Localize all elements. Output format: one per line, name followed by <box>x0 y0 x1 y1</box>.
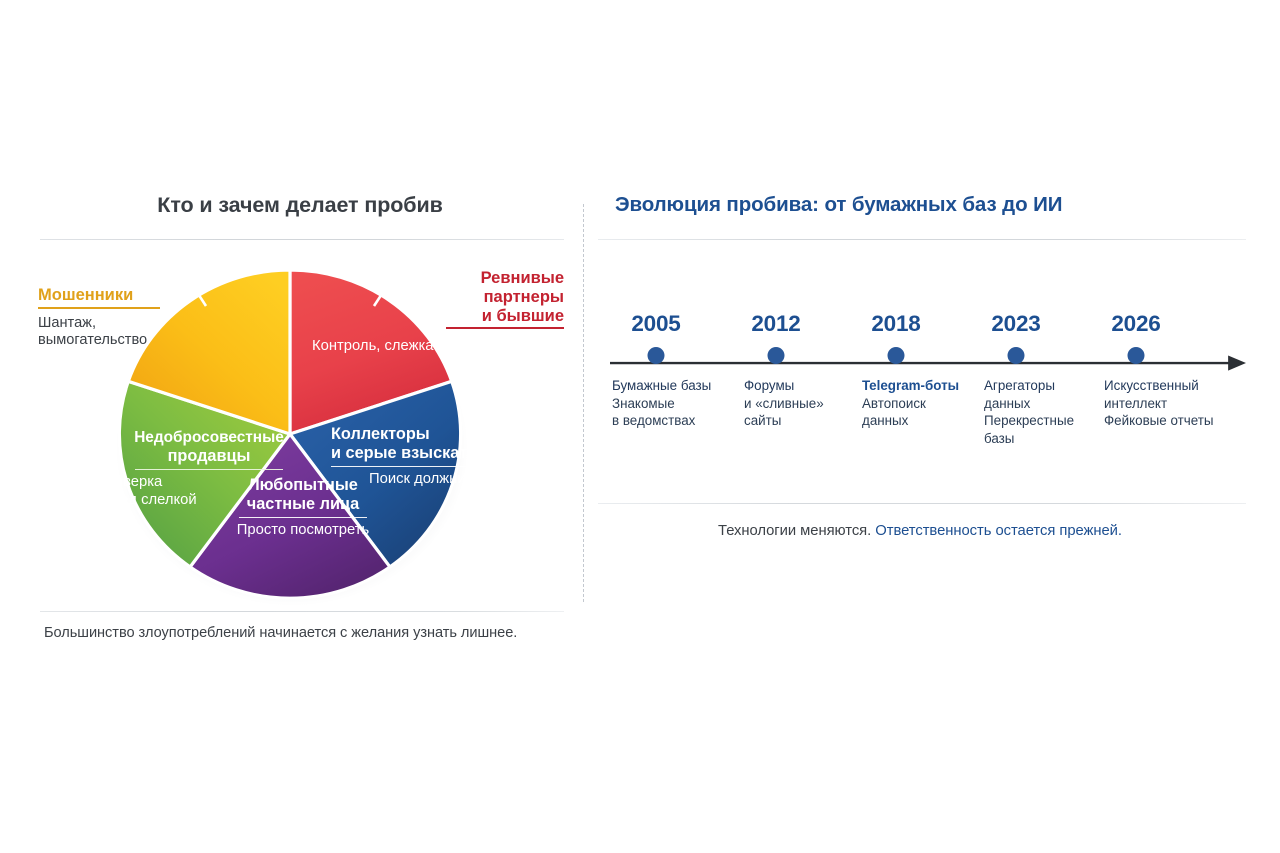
pie-label-collectors-subtitle: Поиск должников <box>369 471 531 489</box>
callout-fraudsters: Мошенники Шантаж, вымогательство <box>38 286 226 350</box>
timeline-axis <box>610 353 1246 379</box>
pie-label-unscrupulous-sellers: Недобросовестные продавцы Проверка перед… <box>116 429 302 510</box>
timeline-arrow-icon <box>1228 355 1246 370</box>
timeline-year-2023: 2023 <box>991 311 1040 337</box>
right-panel-bottom-divider <box>598 503 1246 504</box>
timeline-dot-icon-2012 <box>767 347 784 364</box>
left-panel-footnote: Большинство злоупотреблений начинается с… <box>44 625 564 641</box>
pie-label-collectors-underline <box>331 466 499 468</box>
timeline-desc-2026-lines: интеллект Фейковые отчеты <box>1104 395 1234 430</box>
timeline-year-2012: 2012 <box>751 311 800 337</box>
panel-divider <box>583 204 584 602</box>
timeline-desc-2023: Агрегаторы данных Перекрестные базы <box>984 377 1096 448</box>
pie-label-collectors-title-line1: Коллекторы <box>331 425 531 444</box>
timeline-desc-2005: Бумажные базы Знакомые в ведомствах <box>612 377 736 430</box>
callout-fraudsters-subtitle: Шантаж, вымогательство <box>38 315 226 350</box>
left-panel-title: Кто и зачем делает пробив <box>36 193 564 218</box>
pie-label-curious-individuals-underline <box>239 517 367 519</box>
pie-label-curious-individuals-subtitle: Просто посмотреть <box>222 522 384 540</box>
right-panel-footnote-part2: Ответственность остается прежней. <box>871 523 1122 539</box>
callout-jealous-partners-underline <box>446 327 564 329</box>
infographic-canvas: Кто и зачем делает пробив <box>0 0 1280 853</box>
callout-jealous-partners: Ревнивые партнеры и бывшие <box>356 269 564 335</box>
left-panel-top-divider <box>40 239 564 240</box>
left-panel: Кто и зачем делает пробив <box>36 193 564 663</box>
timeline-desc-2018-lines: Автопоиск данных <box>862 395 978 430</box>
right-panel-footnote-part1: Технологии меняются. <box>718 523 871 539</box>
timeline-desc-2018: Telegram-боты Автопоиск данных <box>862 377 978 430</box>
timeline-desc-2026: Искусственный интеллект Фейковые отчеты <box>1104 377 1234 430</box>
timeline-desc-2012-lines: и «сливные» сайты <box>744 395 848 430</box>
left-panel-bottom-divider <box>40 611 564 612</box>
pie-chart-svg <box>36 193 564 613</box>
pie-label-unscrupulous-sellers-subtitle: Проверка перед слелкой <box>96 474 302 510</box>
right-panel-top-divider <box>598 239 1246 240</box>
timeline-year-2018: 2018 <box>871 311 920 337</box>
timeline-year-2026: 2026 <box>1111 311 1160 337</box>
pie-label-unscrupulous-sellers-title-line2: продавцы <box>116 447 302 466</box>
timeline-desc-2005-head: Бумажные базы <box>612 377 736 395</box>
callout-fraudsters-title: Мошенники <box>38 286 226 305</box>
timeline-desc-2012-head: Форумы <box>744 377 848 395</box>
timeline-year-2005: 2005 <box>631 311 680 337</box>
timeline-desc-2026-head: Искусственный <box>1104 377 1234 395</box>
pie-label-collectors-title-line2: и серые взыскатели <box>331 444 531 463</box>
callout-jealous-partners-title-line3: и бывшие <box>356 307 564 326</box>
timeline-desc-2023-lines: данных Перекрестные базы <box>984 395 1096 448</box>
timeline-dot-icon-2026 <box>1127 347 1144 364</box>
timeline-desc-2012: Форумы и «сливные» сайты <box>744 377 848 430</box>
pie-label-unscrupulous-sellers-underline <box>135 469 283 471</box>
timeline-dot-icon-2005 <box>647 347 664 364</box>
timeline-dot-icon-2018 <box>887 347 904 364</box>
callout-jealous-partners-title-line1: Ревнивые <box>356 269 564 288</box>
callout-jealous-partners-title-line2: партнеры <box>356 288 564 307</box>
callout-fraudsters-underline <box>38 307 160 309</box>
timeline-desc-2018-head: Telegram-боты <box>862 377 978 395</box>
right-panel-footnote: Технологии меняются. Ответственность ост… <box>594 523 1246 539</box>
pie-slice-label-jealous-partners-subtitle: Контроль, слежка <box>312 338 434 354</box>
right-panel-title: Эволюция пробива: от бумажных баз до ИИ <box>615 193 1062 217</box>
timeline-desc-2023-head: Агрегаторы <box>984 377 1096 395</box>
timeline-desc-2005-lines: Знакомые в ведомствах <box>612 395 736 430</box>
timeline: 2005 Бумажные базы Знакомые в ведомствах… <box>594 253 1246 493</box>
timeline-dot-icon-2023 <box>1007 347 1024 364</box>
right-panel: Эволюция пробива: от бумажных баз до ИИ … <box>594 193 1246 603</box>
pie-label-unscrupulous-sellers-title-line1: Недобросовестные <box>116 429 302 447</box>
